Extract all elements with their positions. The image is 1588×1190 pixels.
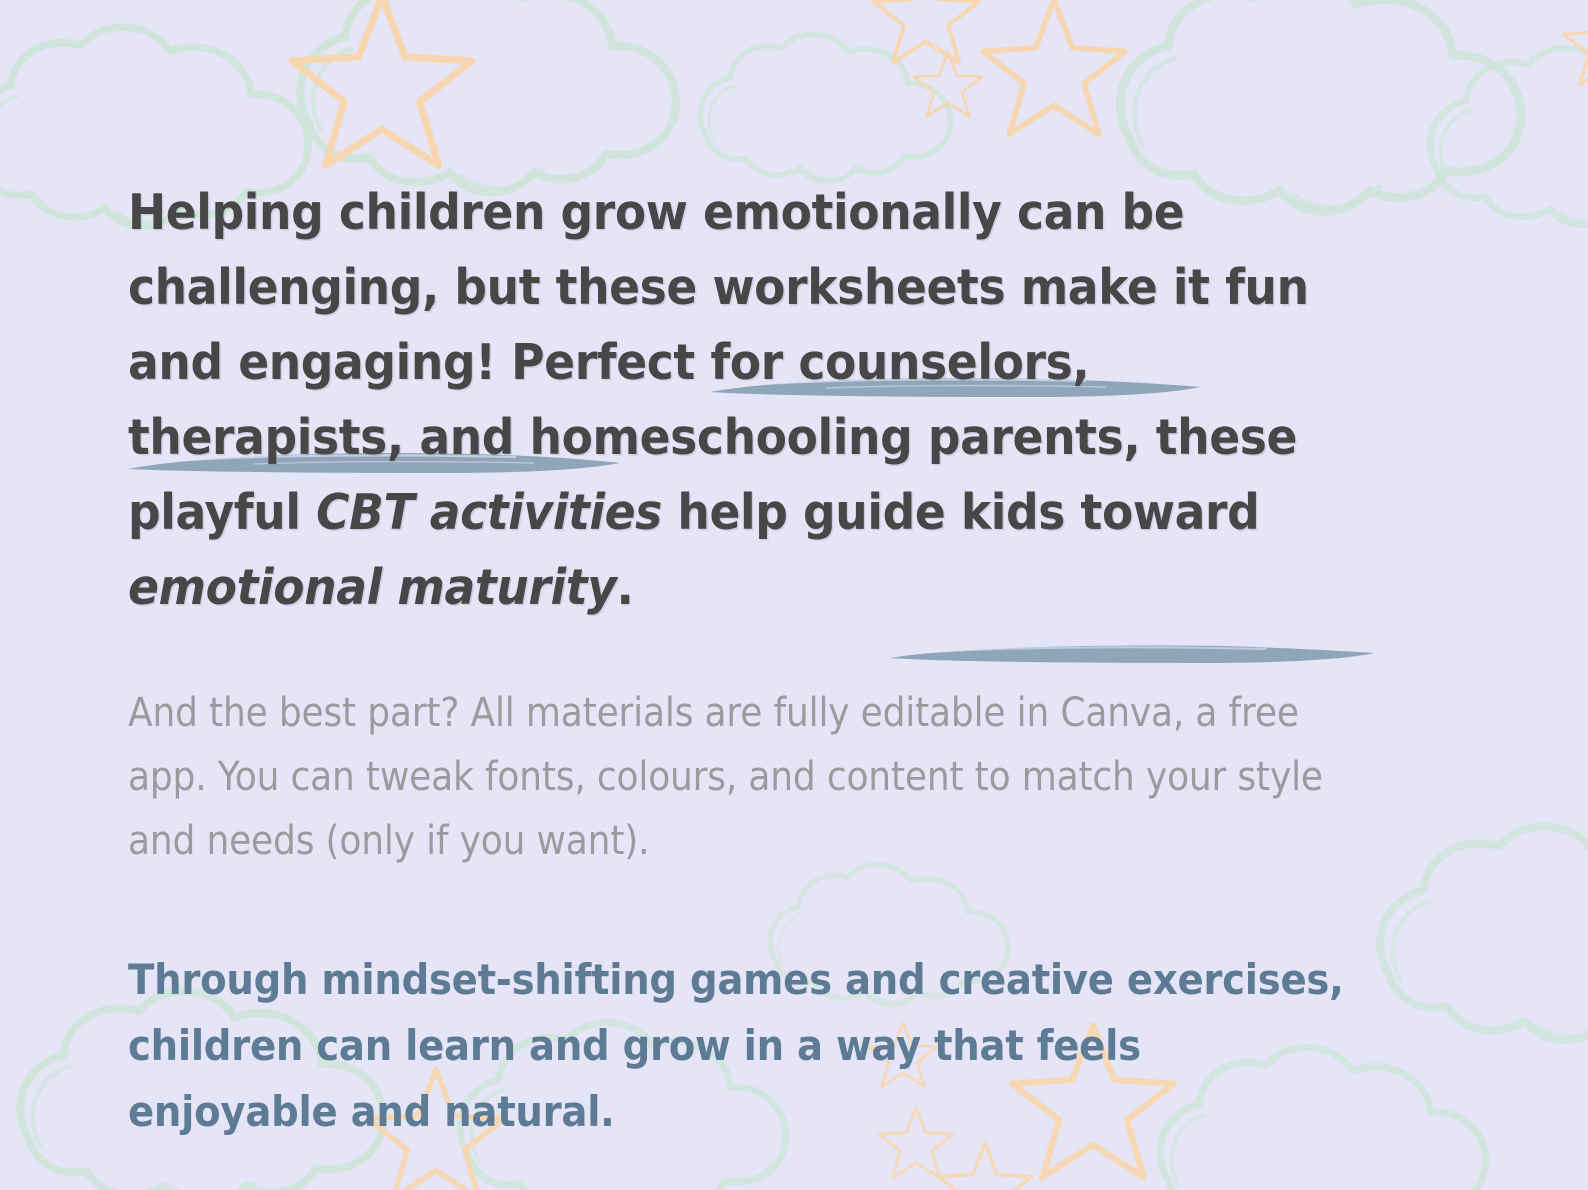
- subtext-paragraph: And the best part? All materials are ful…: [128, 681, 1325, 873]
- headline-segment-3: .: [616, 559, 633, 616]
- star-outline-icon: [1564, 3, 1588, 85]
- headline-segment-2: help guide kids toward: [662, 484, 1259, 541]
- closing-paragraph: Through mindset-shifting games and creat…: [128, 947, 1352, 1145]
- cloud-outline-icon: [700, 34, 950, 181]
- headline-paragraph: Helping children grow emotionally can be…: [128, 175, 1365, 625]
- star-outline-icon: [939, 1143, 1032, 1190]
- headline-emphasis-emotional-maturity: emotional maturity: [128, 559, 616, 616]
- headline-emphasis-cbt-activities: CBT activities: [316, 484, 662, 541]
- poster-canvas: Helping children grow emotionally can be…: [0, 0, 1588, 1190]
- spacer-subtext-closing: [128, 873, 1458, 947]
- cloud-outline-icon: [300, 0, 676, 192]
- star-outline-icon: [983, 0, 1126, 134]
- star-outline-icon: [292, 0, 472, 165]
- star-outline-icon: [873, 0, 978, 63]
- star-outline-icon: [914, 52, 982, 116]
- spacer-headline-subtext: [128, 625, 1458, 681]
- poster-text-content: Helping children grow emotionally can be…: [128, 175, 1458, 1145]
